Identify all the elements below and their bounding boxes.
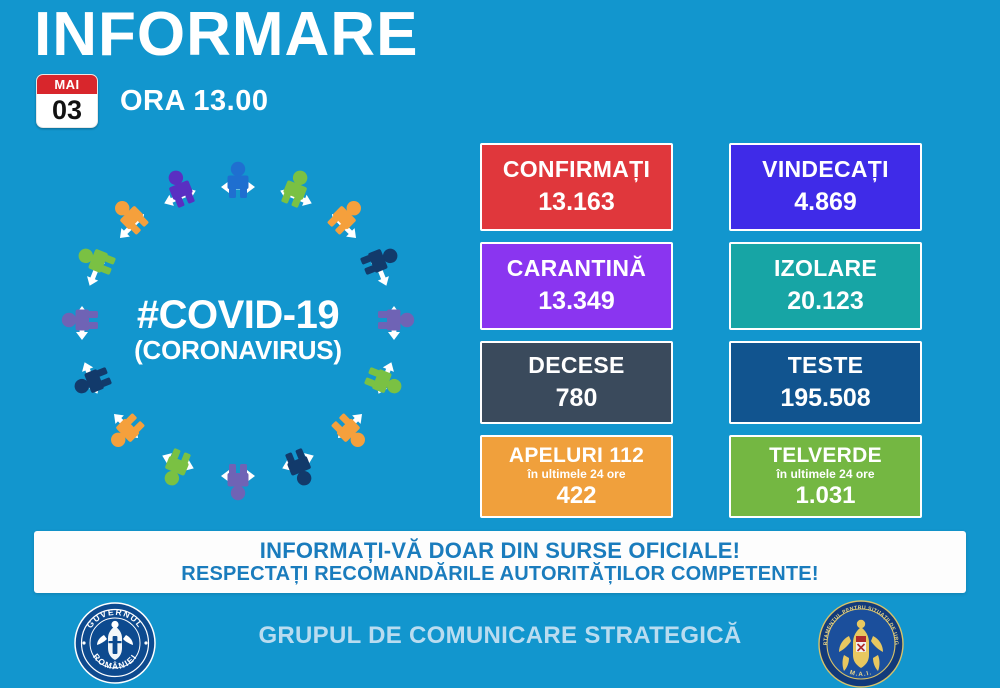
header: INFORMARE MAI 03 ORA 13.00 [0,0,1000,135]
stat-value: 422 [556,483,596,509]
date-bar: MAI 03 ORA 13.00 [36,74,269,128]
people-circle-svg [28,160,448,520]
infographic-page: INFORMARE MAI 03 ORA 13.00 [0,0,1000,688]
stat-card-vindecati: VINDECAȚI 4.869 [729,143,922,231]
stat-label: TELVERDE [769,444,882,467]
stat-label: CONFIRMAȚI [503,157,650,182]
stat-card-carantina: CARANTINĂ 13.349 [480,242,673,330]
people-group [62,162,414,500]
stat-value: 1.031 [795,483,855,509]
stat-label: IZOLARE [774,256,877,281]
stat-note: în ultimele 24 ore [527,468,625,481]
stat-card-izolare: IZOLARE 20.123 [729,242,922,330]
stat-label: DECESE [528,353,624,378]
stat-note: în ultimele 24 ore [776,468,874,481]
stat-value: 20.123 [787,288,863,316]
stat-card-teste: TESTE 195.508 [729,341,922,424]
stat-value: 780 [556,385,598,413]
report-hour: ORA 13.00 [120,85,269,118]
stat-value: 195.508 [780,385,870,413]
covid-circle-graphic: #COVID-19 (CORONAVIRUS) [28,160,448,520]
stat-label: APELURI 112 [509,444,644,467]
notice-line-2: RESPECTAȚI RECOMANDĂRILE AUTORITĂȚILOR C… [181,563,818,586]
statistics-grid: CONFIRMAȚI 13.163 VINDECAȚI 4.869 CARANT… [480,143,928,518]
stat-label: CARANTINĂ [507,256,646,281]
stat-card-telverde: TELVERDE în ultimele 24 ore 1.031 [729,435,922,518]
stat-label: VINDECAȚI [762,157,889,182]
stat-card-apeluri-112: APELURI 112 în ultimele 24 ore 422 [480,435,673,518]
page-title: INFORMARE [34,4,418,66]
stat-value: 13.349 [538,288,614,316]
stat-value: 13.163 [538,189,614,217]
stat-card-confirmati: CONFIRMAȚI 13.163 [480,143,673,231]
calendar-month: MAI [37,75,97,94]
notice-line-1: INFORMAȚI-VĂ DOAR DIN SURSE OFICIALE! [260,538,740,563]
dsu-mai-seal-icon: DEPARTAMENTUL PENTRU SITUAȚII DE URGENȚĂ… [818,600,904,688]
calendar-icon: MAI 03 [36,74,98,128]
stat-label: TESTE [788,353,864,378]
stat-value: 4.869 [794,189,857,217]
official-sources-notice: INFORMAȚI-VĂ DOAR DIN SURSE OFICIALE! RE… [34,531,966,593]
calendar-day: 03 [37,94,97,127]
stat-card-decese: DECESE 780 [480,341,673,424]
footer: GUVERNUL ROMÂNIEI GRUPUL DE COMUNICARE S… [0,598,1000,688]
